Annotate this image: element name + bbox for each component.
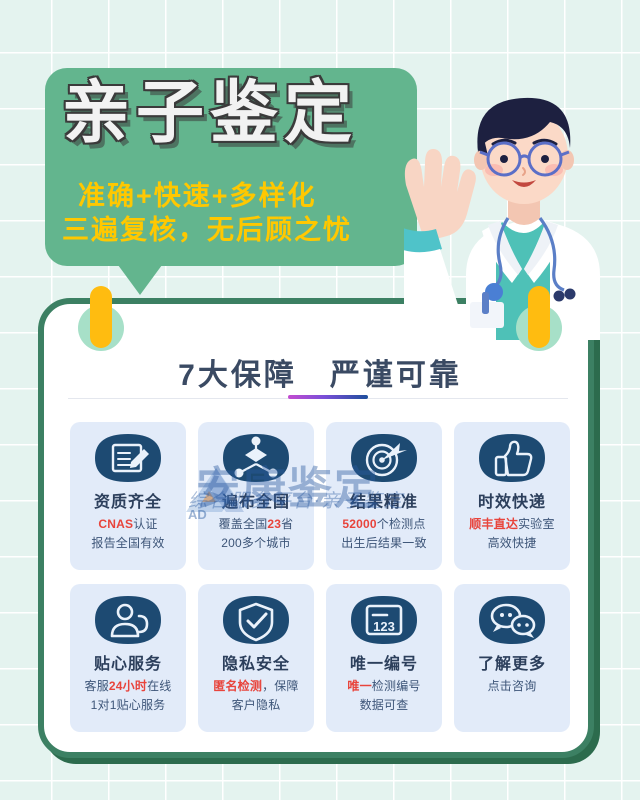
card-title: 遍布全国 — [198, 488, 314, 512]
pin-right-bar — [528, 286, 550, 348]
card-title: 贴心服务 — [70, 650, 186, 674]
card-item[interactable]: 贴心服务 客服24小时在线 1对1贴心服务 — [70, 584, 186, 732]
card-line-1: 顺丰直达实验室 — [454, 515, 570, 532]
card-item[interactable]: 结果精准 52000个检测点 出生后结果一致 — [326, 422, 442, 570]
card-line-1: 覆盖全国23省 — [198, 515, 314, 532]
card-line-1: 唯一检测编号 — [326, 677, 442, 694]
card-line-1: 匿名检测，保障 — [198, 677, 314, 694]
card-title: 资质齐全 — [70, 488, 186, 512]
network-nodes-icon — [217, 430, 295, 486]
card-title: 唯一编号 — [326, 650, 442, 674]
card-title: 了解更多 — [454, 650, 570, 674]
chat-bubbles-icon — [473, 592, 551, 648]
card-line-1: CNAS认证 — [70, 515, 186, 532]
card-line-2: 报告全国有效 — [70, 534, 186, 551]
guarantee-cards-grid: 资质齐全 CNAS认证 报告全国有效 遍布全国 覆盖全国23省 200多个城市 … — [70, 422, 570, 732]
card-item[interactable]: 隐私安全 匿名检测，保障 客户隐私 — [198, 584, 314, 732]
target-arrow-icon — [345, 430, 423, 486]
thumbs-up-icon — [473, 430, 551, 486]
hero-subtitle-line-2: 三遍复核，无后顾之忧 — [62, 208, 352, 247]
card-title: 隐私安全 — [198, 650, 314, 674]
user-support-icon — [89, 592, 167, 648]
card-line-2: 客户隐私 — [198, 696, 314, 713]
card-title: 时效快递 — [454, 488, 570, 512]
card-item[interactable]: 了解更多 点击咨询 — [454, 584, 570, 732]
card-line-2: 数据可查 — [326, 696, 442, 713]
document-pen-icon — [89, 430, 167, 486]
doctor-illustration — [404, 40, 640, 340]
heading-accent-bar — [288, 395, 368, 399]
shield-check-icon — [217, 592, 295, 648]
card-line-2: 出生后结果一致 — [326, 534, 442, 551]
card-item[interactable]: 时效快递 顺丰直达实验室 高效快捷 — [454, 422, 570, 570]
card-line-1: 点击咨询 — [454, 677, 570, 694]
svg-text:123: 123 — [373, 619, 395, 634]
card-item[interactable]: 资质齐全 CNAS认证 报告全国有效 — [70, 422, 186, 570]
pin-left-bar — [90, 286, 112, 348]
card-line-1: 52000个检测点 — [326, 515, 442, 532]
card-item[interactable]: 123 唯一编号 唯一检测编号 数据可查 — [326, 584, 442, 732]
card-line-1: 客服24小时在线 — [70, 677, 186, 694]
card-item[interactable]: 遍布全国 覆盖全国23省 200多个城市 — [198, 422, 314, 570]
card-line-2: 高效快捷 — [454, 534, 570, 551]
hero-bubble-tail — [118, 265, 162, 295]
card-line-2: 200多个城市 — [198, 534, 314, 551]
panel-heading: 7大保障 严谨可靠 — [0, 350, 640, 394]
card-title: 结果精准 — [326, 488, 442, 512]
page-title: 亲子鉴定 — [62, 74, 402, 152]
card-line-2: 1对1贴心服务 — [70, 696, 186, 713]
number-123-icon: 123 — [345, 592, 423, 648]
waving-hand — [404, 149, 476, 316]
